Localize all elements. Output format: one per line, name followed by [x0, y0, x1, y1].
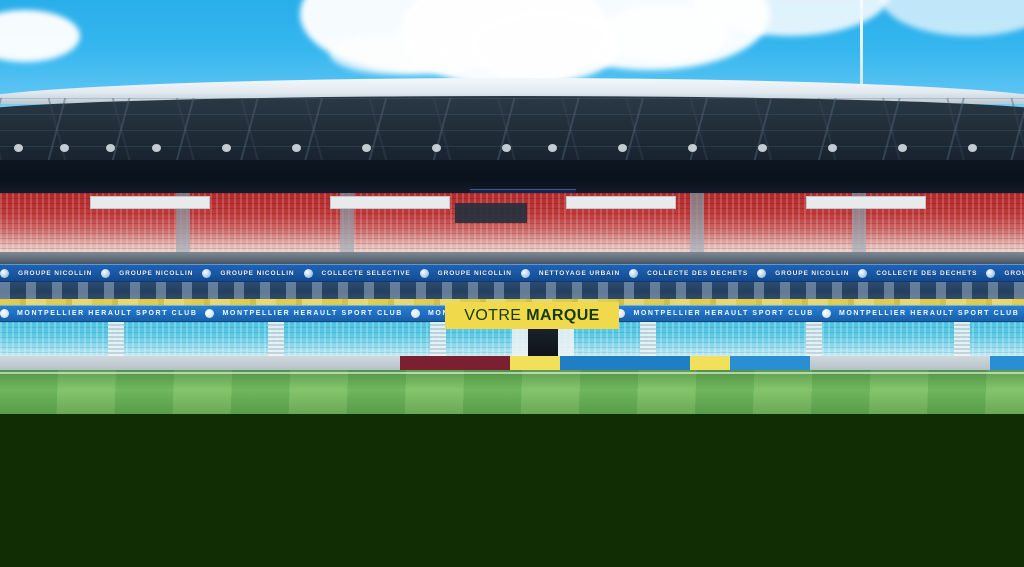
brand-placement-badge: VOTRE MARQUE [445, 302, 619, 329]
banner-text: COLLECTE SELECTIVE [313, 270, 420, 277]
stand-stairs [268, 322, 284, 358]
camera-gantry [455, 203, 527, 223]
banner-logo-icon [202, 269, 211, 278]
floodlight-icon [828, 144, 837, 152]
banner-text: GROUPE NICOLLIN [211, 270, 303, 277]
banner-text: GROUPE NICOLLIN [110, 270, 202, 277]
floodlight-icon [618, 144, 627, 152]
floodlight-icon [362, 144, 371, 152]
banner-text: GROUPE NICOLLIN [429, 270, 521, 277]
press-box [806, 196, 926, 209]
caption-panel: UNE VISIBILITÉ INTÉRIEURE •Espace 3 [0, 414, 1024, 567]
stand-stairs [430, 322, 446, 358]
cloud-icon [330, 34, 450, 74]
press-box [90, 196, 210, 209]
players-tunnel [528, 328, 558, 358]
cloud-icon [880, 0, 1024, 36]
banner-logo-icon [757, 269, 766, 278]
flagpole [860, 0, 863, 92]
floodlight-icon [60, 144, 69, 152]
cloud-icon [470, 10, 620, 82]
banner-logo-icon [411, 309, 420, 318]
stand-walkway [690, 193, 704, 255]
cloud-icon [0, 10, 80, 62]
banner-text: NETTOYAGE URBAIN [530, 270, 629, 277]
stand-stairs [806, 322, 822, 358]
floodlight-icon [758, 144, 767, 152]
press-box [566, 196, 676, 209]
floodlight-icon [222, 144, 231, 152]
banner-text: GROUPE NICOLLIN [995, 270, 1024, 277]
stadium-photo: CLUB VIP PARTENAIRES GROUPE NICOLLINGROU… [0, 0, 1024, 414]
banner-text: COLLECTE DES DECHETS [867, 270, 986, 277]
slide: CLUB VIP PARTENAIRES GROUPE NICOLLINGROU… [0, 0, 1024, 567]
banner-logo-icon [304, 269, 313, 278]
banner-text: MONTPELLIER HERAULT SPORT CLUB [625, 310, 821, 317]
banner-logo-icon [822, 309, 831, 318]
floodlight-icon [898, 144, 907, 152]
brand-badge-text: VOTRE MARQUE [464, 307, 600, 325]
floodlight-icon [106, 144, 115, 152]
stand-stairs [954, 322, 970, 358]
banner-logo-icon [101, 269, 110, 278]
banner-text: GROUPE NICOLLIN [9, 270, 101, 277]
press-box [330, 196, 450, 209]
floodlight-icon [548, 144, 557, 152]
brand-badge-emphasis: MARQUE [526, 307, 600, 324]
pitch-touchline [0, 372, 1024, 374]
banner-logo-icon [205, 309, 214, 318]
football-pitch [0, 370, 1024, 414]
advertising-banner-upper: GROUPE NICOLLINGROUPE NICOLLINGROUPE NIC… [0, 264, 1024, 282]
banner-logo-icon [420, 269, 429, 278]
floodlight-icon [688, 144, 697, 152]
banner-logo-icon [986, 269, 995, 278]
brand-badge-prefix: VOTRE [464, 307, 521, 324]
floodlight-icon [292, 144, 301, 152]
banner-logo-icon [629, 269, 638, 278]
banner-text: MONTPELLIER HERAULT SPORT CLUB [9, 310, 205, 317]
floodlight-icon [968, 144, 977, 152]
floodlight-icon [502, 144, 511, 152]
banner-text: MONTPELLIER HERAULT SPORT CLUB [214, 310, 410, 317]
banner-logo-icon [0, 269, 9, 278]
stand-stairs [640, 322, 656, 358]
floodlight-row [0, 144, 1024, 154]
floodlight-icon [14, 144, 23, 152]
banner-text: COLLECTE DES DECHETS [638, 270, 757, 277]
banner-text: MONTPELLIER HERAULT SPORT CLUB [831, 310, 1024, 317]
banner-logo-icon [521, 269, 530, 278]
floodlight-icon [152, 144, 161, 152]
banner-logo-icon [858, 269, 867, 278]
floodlight-icon [432, 144, 441, 152]
banner-logo-icon [0, 309, 9, 318]
banner-text: GROUPE NICOLLIN [766, 270, 858, 277]
stand-stairs [108, 322, 124, 358]
